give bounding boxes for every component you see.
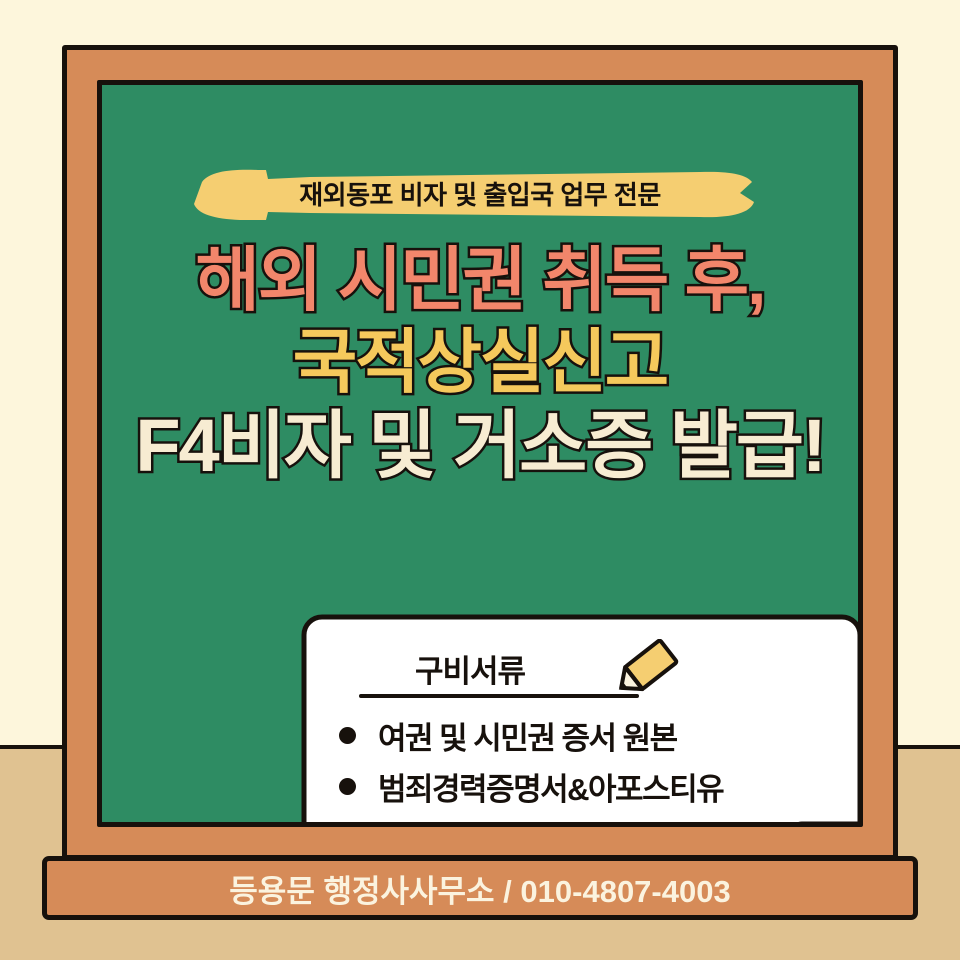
pencil-icon: [609, 639, 685, 699]
bullet-icon: [339, 778, 356, 795]
list-item: 여권 및 시민권 증서 원본: [339, 714, 843, 756]
poster-canvas: 재외동포 비자 및 출입국 업무 전문 해외 시민권 취득 후, 국적상실신고 …: [0, 0, 960, 960]
card-title: 구비서류: [415, 646, 525, 691]
list-item-label: 범죄경력증명서&아포스티유: [378, 764, 723, 809]
bullet-icon: [339, 727, 356, 744]
card-title-underline: [359, 694, 639, 698]
required-documents-card: 구비서류: [301, 614, 863, 827]
list-item-label: 거주지 입증 서류: [378, 815, 581, 828]
required-documents-list: 여권 및 시민권 증서 원본 범죄경력증명서&아포스티유 거주지 입증 서류: [339, 714, 843, 827]
footer-ledge-bar: 등용문 행정사사무소 / 010-4807-4003: [42, 856, 918, 920]
list-item: 거주지 입증 서류: [339, 816, 843, 827]
list-item-label: 여권 및 시민권 증서 원본: [378, 713, 677, 758]
headline-line-2: 국적상실신고: [102, 327, 858, 397]
card-header: 구비서류: [359, 642, 689, 700]
banner-highlight: 재외동포 비자 및 출입국 업무 전문: [180, 162, 780, 224]
headline-block: 해외 시민권 취득 후, 국적상실신고 F4비자 및 거소증 발급!: [102, 245, 858, 483]
card-content: 구비서류: [301, 614, 863, 827]
list-item: 범죄경력증명서&아포스티유: [339, 765, 843, 807]
headline-line-1: 해외 시민권 취득 후,: [102, 245, 858, 315]
chalkboard-surface: 재외동포 비자 및 출입국 업무 전문 해외 시민권 취득 후, 국적상실신고 …: [97, 80, 863, 827]
headline-line-3: F4비자 및 거소증 발급!: [102, 409, 858, 483]
chalkboard-frame: 재외동포 비자 및 출입국 업무 전문 해외 시민권 취득 후, 국적상실신고 …: [62, 45, 898, 860]
footer-contact-text: 등용문 행정사사무소 / 010-4807-4003: [229, 866, 730, 911]
banner-text: 재외동포 비자 및 출입국 업무 전문: [180, 162, 780, 224]
